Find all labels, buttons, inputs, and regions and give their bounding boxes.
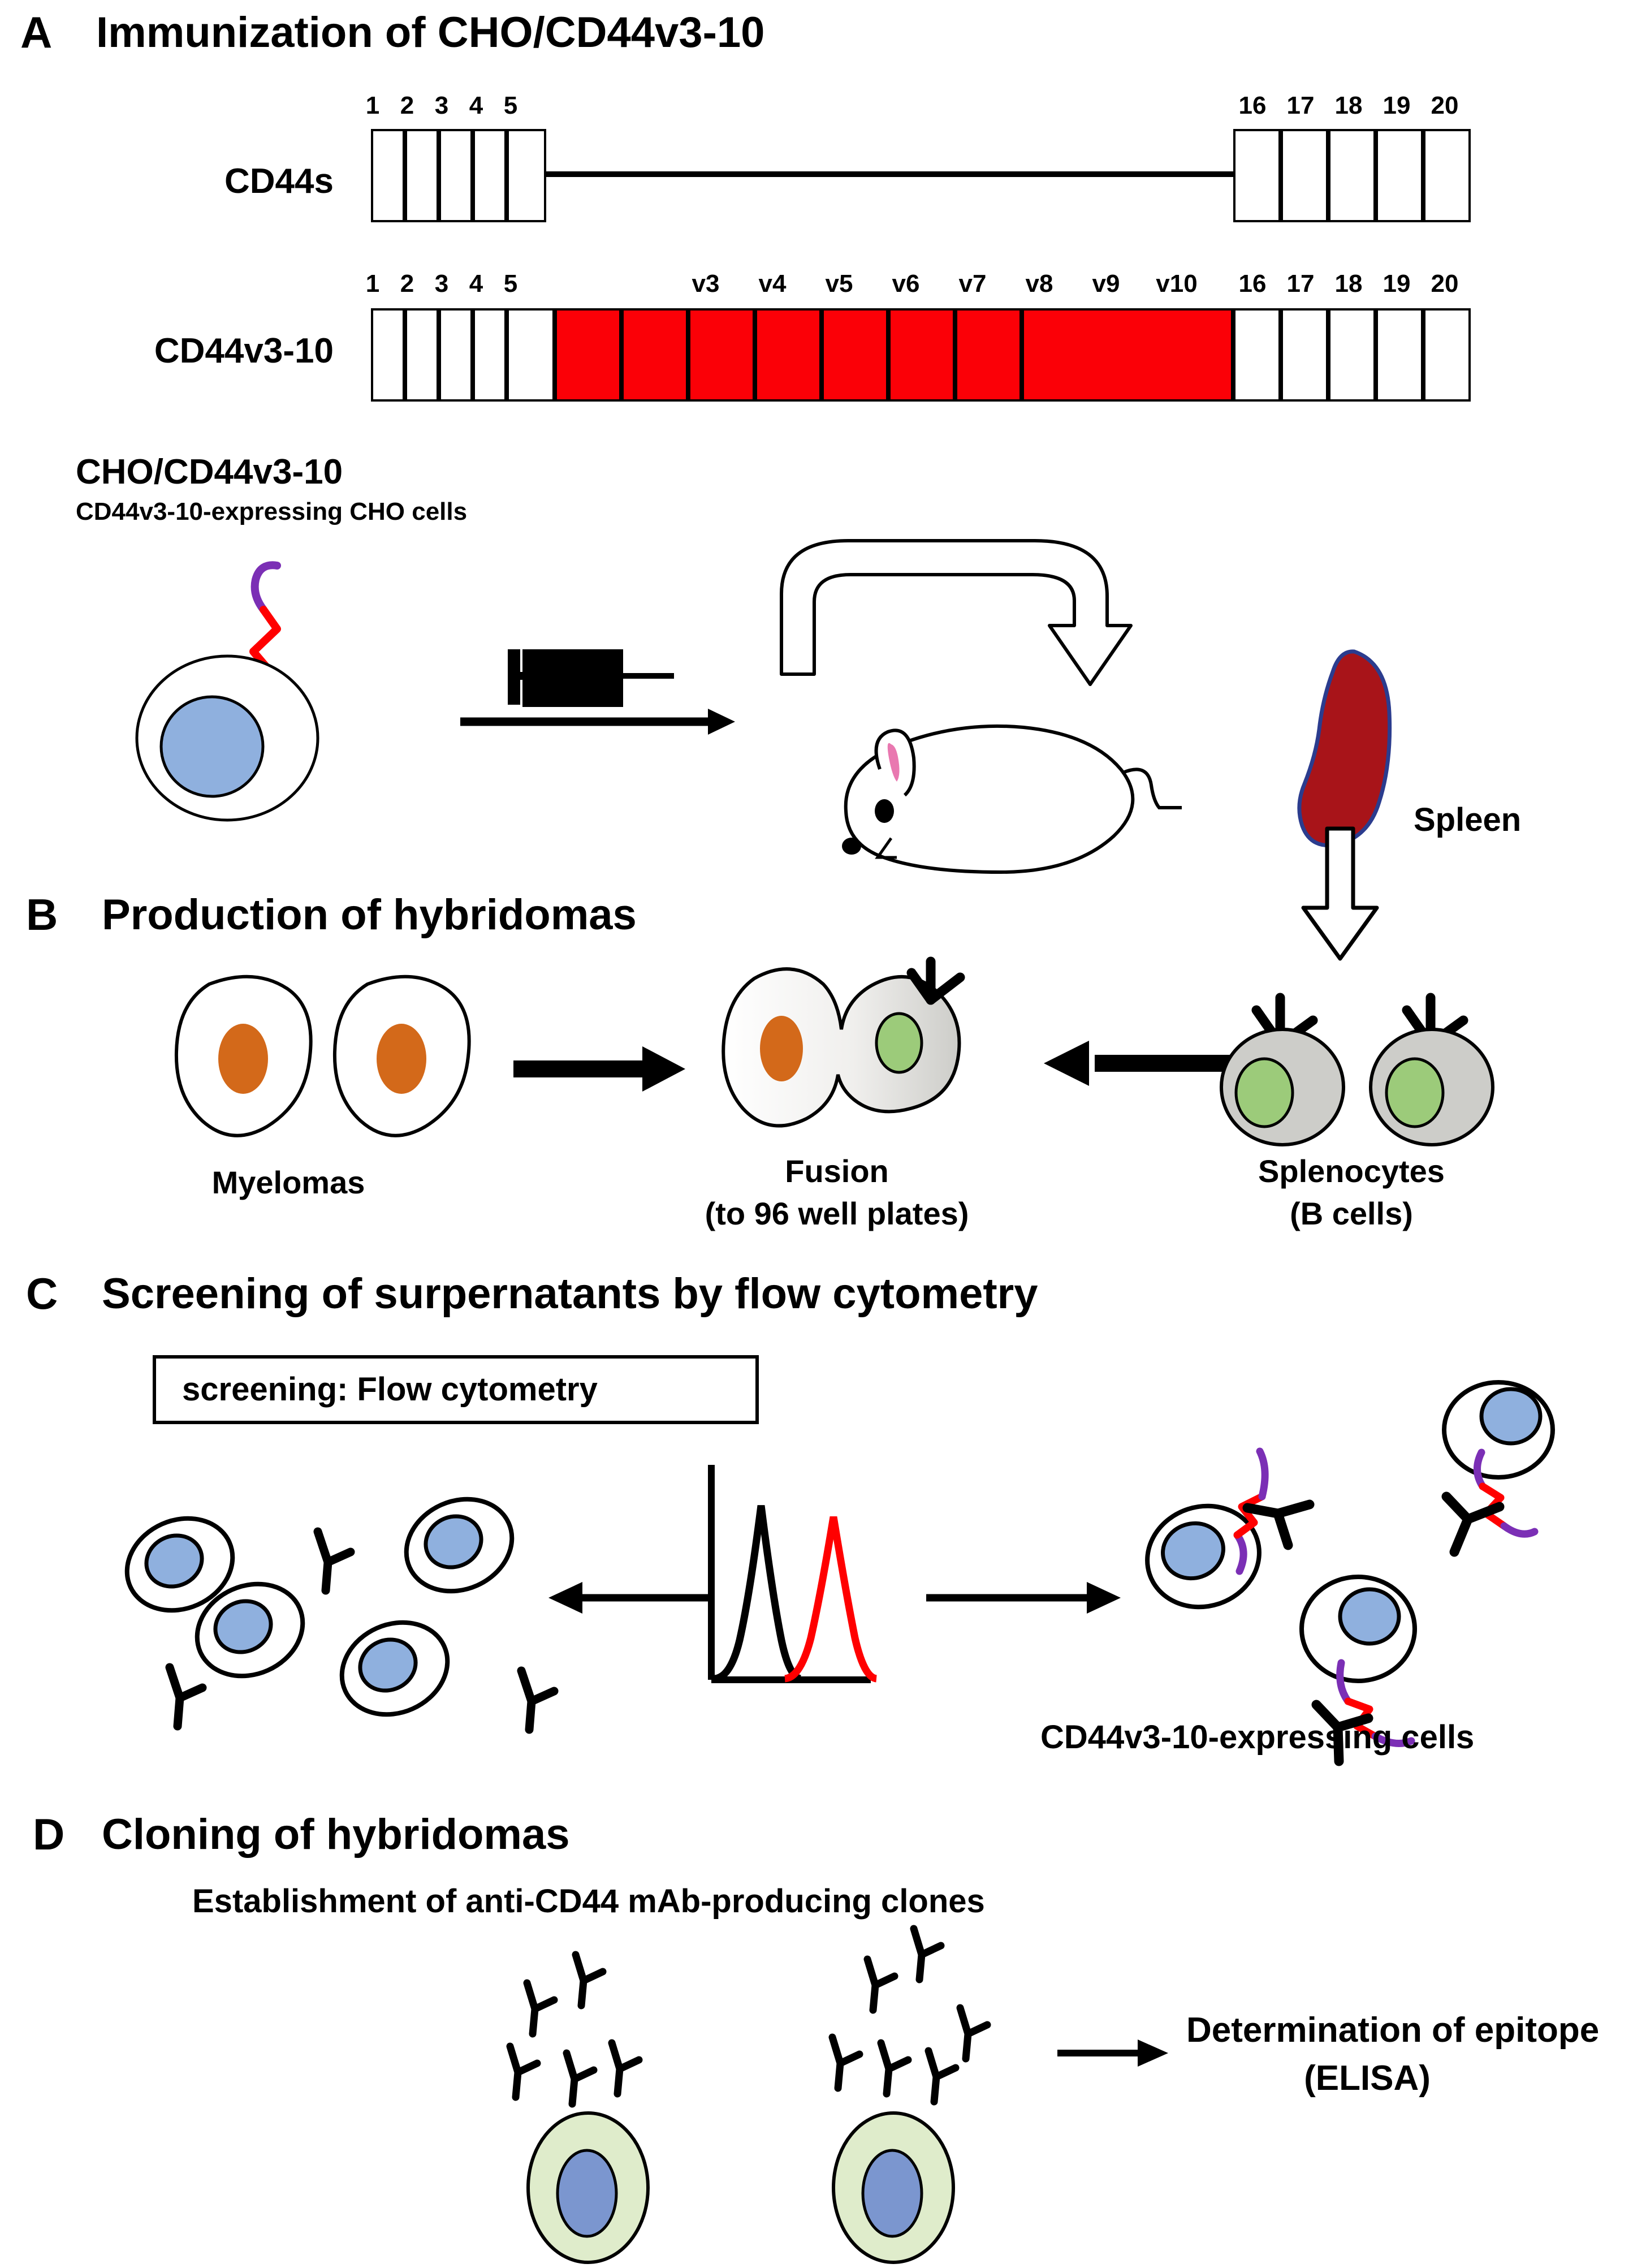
fusion-right-arrow-icon bbox=[509, 1035, 695, 1103]
cd44v-exon-box-19 bbox=[1376, 308, 1423, 402]
cd44v-variant-number-v3: v3 bbox=[679, 271, 733, 296]
panel-b-letter: B bbox=[26, 892, 58, 937]
cd44v-exon-box-1 bbox=[371, 308, 405, 402]
fusion-bcell-nucleus bbox=[876, 1014, 922, 1072]
clone-cell-1-nucleus bbox=[558, 2150, 616, 2236]
splenocyte-cells-group bbox=[1193, 939, 1555, 1165]
syringe-injection-icon bbox=[452, 611, 746, 735]
myeloma-cells-group bbox=[153, 961, 503, 1154]
splenocyte-nucleus-1 bbox=[1236, 1059, 1293, 1127]
cd44s-exon-number-3: 3 bbox=[427, 93, 456, 118]
elisa-arrow-icon bbox=[1052, 2025, 1176, 2081]
antibody-icon bbox=[510, 2046, 537, 2097]
negative-cell-4 bbox=[327, 1606, 463, 1731]
cd44v-variant-box-v9 bbox=[955, 308, 1022, 402]
panel-d-letter: D bbox=[33, 1812, 64, 1856]
epitope-label-line2: (ELISA) bbox=[1186, 2059, 1548, 2098]
antibody-icon bbox=[960, 2008, 987, 2059]
cd44s-exon-box-16 bbox=[1233, 129, 1281, 222]
antibody-icon bbox=[612, 2043, 639, 2094]
cd44s-exon-box-2 bbox=[405, 129, 439, 222]
myeloma-nucleus-2 bbox=[377, 1024, 426, 1094]
cd44v-exon-box-18 bbox=[1328, 308, 1376, 402]
cd44v-variant-box-v7 bbox=[822, 308, 888, 402]
cd44v-exon-box-4 bbox=[473, 308, 507, 402]
cd44v-variant-number-v6: v6 bbox=[879, 271, 933, 296]
cd44s-exon-number-1: 1 bbox=[358, 93, 387, 118]
clone-1-antibody-cloud bbox=[498, 1946, 690, 2115]
cd44v-exon-box-5 bbox=[507, 308, 555, 402]
mouse-to-spleen-arrow-icon bbox=[769, 526, 1187, 713]
clone-cell-2 bbox=[809, 2110, 978, 2268]
antibody-icon bbox=[521, 1671, 554, 1730]
screening-negative-arrow-icon bbox=[543, 1567, 712, 1629]
myeloma-nucleus-1 bbox=[218, 1024, 268, 1094]
cd44v3-10-row-label: CD44v3-10 bbox=[51, 334, 334, 369]
cd44v-exon-number-5: 5 bbox=[496, 271, 525, 296]
cd44v-variant-number-v8: v8 bbox=[1012, 271, 1066, 296]
cd44s-row-label: CD44s bbox=[90, 164, 334, 199]
positive-cells-group bbox=[1108, 1397, 1617, 1714]
positive-cell-2 bbox=[1134, 1451, 1310, 1622]
cd44v-exon-number-19: 19 bbox=[1379, 271, 1415, 296]
cd44s-exon-number-4: 4 bbox=[462, 93, 490, 118]
clone-cell-2-nucleus bbox=[863, 2150, 922, 2236]
clone-cell-1 bbox=[503, 2110, 673, 2268]
myelomas-label: Myelomas bbox=[170, 1165, 407, 1201]
cd44v-exon-box-16 bbox=[1233, 308, 1281, 402]
cd44v-exon-number-4: 4 bbox=[462, 271, 490, 296]
injection-arrow-icon bbox=[460, 709, 735, 735]
cd44s-exon-box-19 bbox=[1376, 129, 1423, 222]
cd44v-exon-number-20: 20 bbox=[1427, 271, 1463, 296]
cho-cell-nucleus bbox=[161, 697, 263, 796]
cd44s-splice-line bbox=[546, 171, 1233, 177]
cd44v-variant-box-v10 bbox=[1022, 308, 1233, 402]
mouse-icon bbox=[809, 690, 1261, 894]
panel-d-title: Cloning of hybridomas bbox=[102, 1813, 570, 1856]
cd44v-variant-box-v4 bbox=[621, 308, 688, 402]
antibody-icon bbox=[318, 1532, 351, 1590]
antibody-icon bbox=[881, 2043, 908, 2094]
cd44s-exon-number-16: 16 bbox=[1234, 93, 1271, 118]
cd44s-exon-number-2: 2 bbox=[393, 93, 421, 118]
negative-cell-3 bbox=[392, 1483, 527, 1608]
cd44v-exon-number-17: 17 bbox=[1282, 271, 1319, 296]
histogram-negative-peak bbox=[715, 1506, 801, 1679]
fusion-label-line2: (to 96 well plates) bbox=[645, 1196, 1029, 1232]
cd44v-exon-box-20 bbox=[1423, 308, 1471, 402]
cd44v-variant-number-v7: v7 bbox=[945, 271, 1000, 296]
cd44v-exon-number-1: 1 bbox=[358, 271, 387, 296]
cd44v-variant-box-v8 bbox=[888, 308, 955, 402]
splenocytes-label-line2: (B cells) bbox=[1154, 1196, 1549, 1232]
epitope-label-line1: Determination of epitope bbox=[1186, 2011, 1599, 2050]
screening-box-label: screening: Flow cytometry bbox=[156, 1359, 755, 1421]
cd44s-exon-number-18: 18 bbox=[1330, 93, 1367, 118]
cho-cell-diagram bbox=[107, 543, 424, 837]
antibody-icon bbox=[567, 2053, 594, 2104]
panel-d-subtitle: Establishment of anti-CD44 mAb-producing… bbox=[192, 1883, 985, 1920]
cd44v-variant-number-v4: v4 bbox=[745, 271, 800, 296]
expressing-cells-label: CD44v3-10-expressing cells bbox=[1040, 1719, 1474, 1756]
cd44v-variant-number-v10: v10 bbox=[1146, 271, 1208, 296]
fusion-cell-diagram bbox=[695, 939, 1046, 1165]
panel-b-title: Production of hybridomas bbox=[102, 894, 637, 937]
clone-2-antibody-cloud bbox=[820, 1923, 1023, 2115]
panel-a-title: Immunization of CHO/CD44v3-10 bbox=[96, 11, 764, 54]
cd44v-exon-number-16: 16 bbox=[1234, 271, 1271, 296]
cd44v-variant-box-v5 bbox=[688, 308, 755, 402]
splenocyte-nucleus-2 bbox=[1386, 1059, 1443, 1127]
antibody-icon bbox=[527, 1983, 554, 2034]
cd44v-exon-box-2 bbox=[405, 308, 439, 402]
antibody-icon bbox=[832, 2037, 859, 2088]
cd44s-exon-number-20: 20 bbox=[1427, 93, 1463, 118]
antibody-icon bbox=[928, 2051, 956, 2102]
cd44v-variant-number-v5: v5 bbox=[812, 271, 866, 296]
negative-cells-group bbox=[102, 1482, 565, 1736]
cd44v-variant-box-v6 bbox=[755, 308, 822, 402]
screening-positive-arrow-icon bbox=[922, 1567, 1125, 1629]
histogram-positive-peak bbox=[785, 1517, 876, 1679]
cd44v-exon-number-3: 3 bbox=[427, 271, 456, 296]
antibody-icon bbox=[914, 1929, 941, 1980]
cd44s-exon-number-17: 17 bbox=[1282, 93, 1319, 118]
cho-cell-title: CHO/CD44v3-10 bbox=[76, 452, 343, 491]
cd44s-exon-box-4 bbox=[473, 129, 507, 222]
screening-method-box: screening: Flow cytometry bbox=[153, 1355, 759, 1424]
cd44s-exon-box-20 bbox=[1423, 129, 1471, 222]
spleen-label: Spleen bbox=[1414, 802, 1521, 839]
panel-c-letter: C bbox=[26, 1271, 58, 1316]
mouse-nose-icon bbox=[842, 838, 861, 855]
panel-a-letter: A bbox=[20, 10, 52, 54]
fusion-myeloma-nucleus bbox=[760, 1016, 803, 1081]
splenocytes-label-line1: Splenocytes bbox=[1154, 1154, 1549, 1189]
flow-cytometry-histogram bbox=[701, 1454, 939, 1702]
cd44s-exon-box-18 bbox=[1328, 129, 1376, 222]
cd44s-exon-box-5 bbox=[507, 129, 546, 222]
cd44v-exon-number-18: 18 bbox=[1330, 271, 1367, 296]
cd44v-exon-box-17 bbox=[1281, 308, 1328, 402]
antibody-icon bbox=[1446, 1497, 1500, 1552]
antibody-icon bbox=[576, 1955, 603, 2006]
cd44v-exon-box-3 bbox=[439, 308, 473, 402]
cd44v-variant-number-v9: v9 bbox=[1079, 271, 1133, 296]
cd44s-exon-box-3 bbox=[439, 129, 473, 222]
cd44s-exon-box-1 bbox=[371, 129, 405, 222]
cd44v-exon-number-2: 2 bbox=[393, 271, 421, 296]
mouse-eye-icon bbox=[875, 799, 894, 823]
fusion-label-line1: Fusion bbox=[645, 1154, 1029, 1189]
cd44s-exon-box-17 bbox=[1281, 129, 1328, 222]
cd44v-variant-box-v3 bbox=[555, 308, 621, 402]
antibody-icon bbox=[867, 1959, 895, 2010]
panel-c-title: Screening of surpernatants by flow cytom… bbox=[102, 1273, 1038, 1316]
cho-cell-subtitle: CD44v3-10-expressing CHO cells bbox=[76, 498, 467, 525]
antibody-icon bbox=[170, 1667, 202, 1726]
cd44s-exon-number-5: 5 bbox=[496, 93, 525, 118]
positive-cell-1 bbox=[1444, 1382, 1553, 1552]
cd44s-exon-number-19: 19 bbox=[1379, 93, 1415, 118]
